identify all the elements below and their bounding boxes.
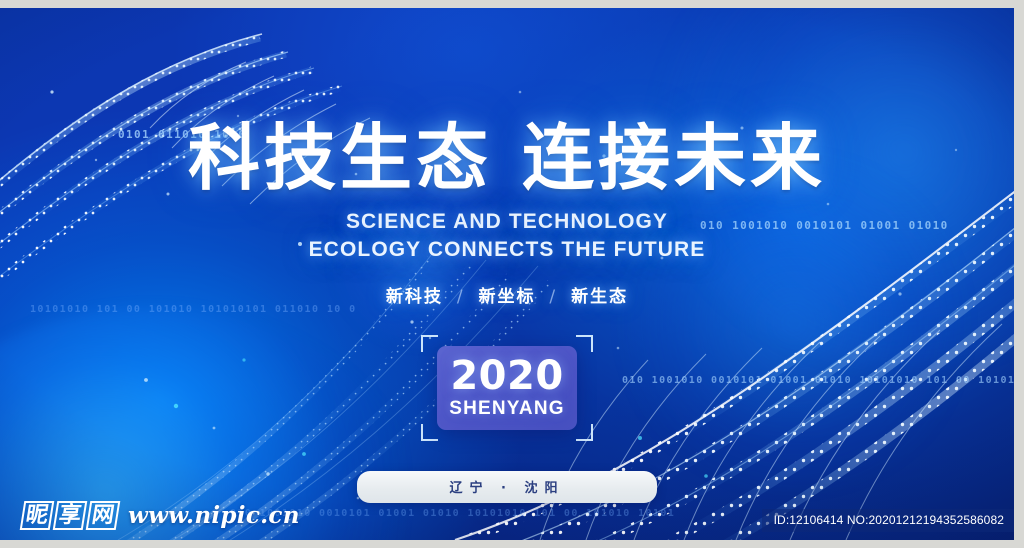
location-pill: 辽宁 · 沈阳 <box>357 471 657 503</box>
tagline-item-1: 新科技 <box>386 287 443 307</box>
headline-part-2: 连接未来 <box>522 116 826 200</box>
page-title: 科技生态连接未来 <box>0 122 1014 194</box>
tagline-separator-1: / <box>457 287 465 307</box>
corner-bracket-bottom-right-icon <box>576 424 593 441</box>
image-id-bar: ID:12106414 NO:20201212194352586082 <box>762 509 1014 532</box>
watermark-url: www.nipic.cn <box>128 502 300 529</box>
subtitle: SCIENCE AND TECHNOLOGY ECOLOGY CONNECTS … <box>0 208 1014 263</box>
watermark-logo-char-2: 享 <box>53 501 88 530</box>
badge-year-label: 2020 <box>449 357 565 395</box>
poster-canvas: 0101 011010 10 0 10101010 101 00 101010 … <box>0 8 1014 540</box>
badge-city-label: SHENYANG <box>449 399 565 418</box>
corner-bracket-bottom-left-icon <box>421 424 438 441</box>
tagline-item-2: 新坐标 <box>479 287 536 307</box>
corner-bracket-top-left-icon <box>421 335 438 352</box>
corner-bracket-top-right-icon <box>576 335 593 352</box>
poster-content: 科技生态连接未来 SCIENCE AND TECHNOLOGY ECOLOGY … <box>0 8 1014 503</box>
subtitle-line-1: SCIENCE AND TECHNOLOGY <box>0 208 1014 236</box>
headline-part-1: 科技生态 <box>188 116 492 200</box>
year-badge: 2020 SHENYANG <box>419 333 595 442</box>
tagline-separator-2: / <box>549 287 557 307</box>
watermark-logo-icon: 昵 享 网 <box>22 501 118 530</box>
page-right-gutter <box>1014 0 1024 540</box>
watermark-logo-char-1: 昵 <box>20 501 55 530</box>
tagline: 新科技 / 新坐标 / 新生态 <box>0 282 1014 307</box>
year-badge-plate: 2020 SHENYANG <box>437 346 577 429</box>
watermark-logo-char-3: 网 <box>86 501 121 530</box>
subtitle-line-2: ECOLOGY CONNECTS THE FUTURE <box>0 236 1014 264</box>
tagline-item-3: 新生态 <box>571 287 628 307</box>
watermark: 昵 享 网 www.nipic.cn <box>22 501 300 530</box>
